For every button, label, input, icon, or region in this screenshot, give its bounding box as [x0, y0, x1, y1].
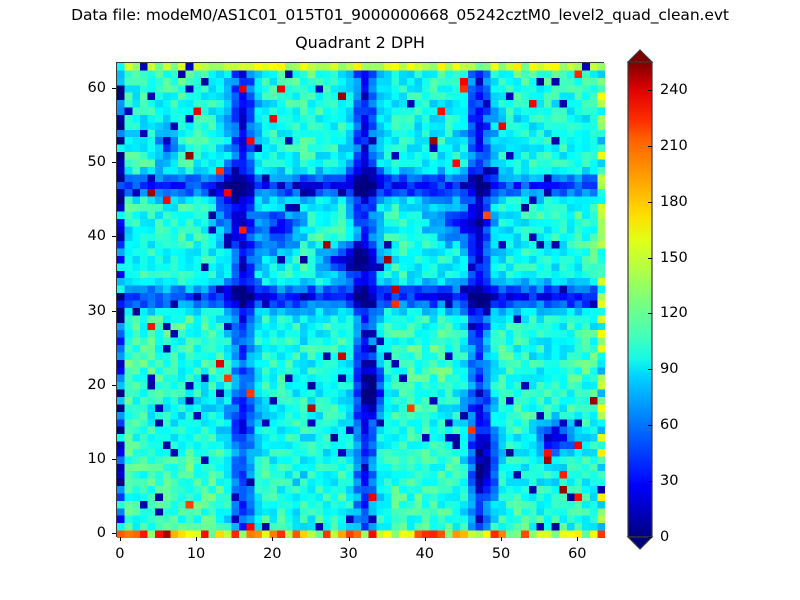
x-tick-mark [501, 537, 502, 541]
x-tick-mark [196, 537, 197, 541]
colorbar-tick-mark [648, 313, 652, 314]
x-tick-label: 30 [339, 546, 357, 562]
y-tick-label: 40 [58, 228, 106, 244]
colorbar-tick-mark [648, 425, 652, 426]
colorbar-tick-label: 150 [660, 250, 688, 266]
x-tick-label: 60 [568, 546, 586, 562]
heatmap-axes[interactable] [116, 62, 604, 537]
y-tick-label: 30 [58, 303, 106, 319]
x-tick-label: 40 [416, 546, 434, 562]
colorbar-tick-label: 0 [660, 529, 669, 545]
colorbar-extend-bottom [628, 537, 652, 549]
colorbar-tick-mark [648, 146, 652, 147]
y-tick-label: 50 [58, 154, 106, 170]
x-tick-label: 0 [115, 546, 124, 562]
x-tick-label: 20 [263, 546, 281, 562]
colorbar-tick-mark [648, 369, 652, 370]
x-tick-mark [272, 537, 273, 541]
y-tick-mark [112, 236, 116, 237]
colorbar-tick-label: 90 [660, 361, 678, 377]
x-tick-mark [577, 537, 578, 541]
page-title: Quadrant 2 DPH [116, 33, 604, 52]
colorbar-tick-label: 240 [660, 82, 688, 98]
colorbar-body [628, 62, 652, 537]
colorbar-tick-mark [648, 537, 652, 538]
figure-canvas: Data file: modeM0/AS1C01_015T01_90000006… [0, 0, 800, 600]
colorbar[interactable]: 0306090120150180210240 [628, 62, 652, 537]
colorbar-tick-label: 180 [660, 194, 688, 210]
x-tick-mark [349, 537, 350, 541]
colorbar-tick-mark [648, 202, 652, 203]
y-tick-label: 0 [58, 525, 106, 541]
y-tick-mark [112, 311, 116, 312]
colorbar-gradient [625, 50, 655, 549]
heatmap-image [117, 63, 605, 538]
y-tick-label: 10 [58, 451, 106, 467]
x-tick-label: 10 [187, 546, 205, 562]
x-tick-mark [120, 537, 121, 541]
colorbar-tick-label: 30 [660, 473, 678, 489]
y-tick-label: 60 [58, 80, 106, 96]
colorbar-extend-top [628, 50, 652, 62]
y-tick-mark [112, 533, 116, 534]
colorbar-tick-label: 60 [660, 417, 678, 433]
y-tick-mark [112, 162, 116, 163]
y-tick-mark [112, 385, 116, 386]
colorbar-tick-mark [648, 481, 652, 482]
y-tick-label: 20 [58, 377, 106, 393]
colorbar-tick-mark [648, 90, 652, 91]
x-tick-label: 50 [492, 546, 510, 562]
data-file-suptitle: Data file: modeM0/AS1C01_015T01_90000006… [0, 6, 800, 24]
colorbar-tick-label: 120 [660, 305, 688, 321]
y-tick-mark [112, 88, 116, 89]
x-tick-mark [425, 537, 426, 541]
colorbar-tick-mark [648, 258, 652, 259]
colorbar-tick-label: 210 [660, 138, 688, 154]
y-tick-mark [112, 459, 116, 460]
